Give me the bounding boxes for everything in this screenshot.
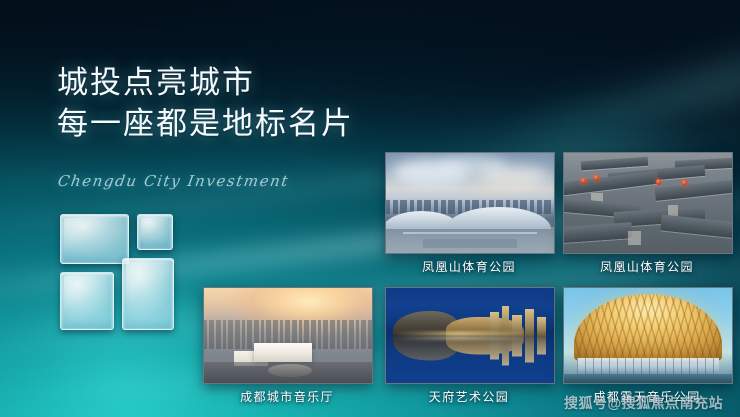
dome-foreground-water bbox=[564, 374, 732, 383]
stadium-plaza bbox=[386, 227, 554, 253]
page-title: 城投点亮城市 每一座都是地标名片 bbox=[57, 62, 354, 144]
reflection-lights bbox=[393, 336, 524, 338]
roof-7 bbox=[563, 222, 632, 244]
roof-3 bbox=[654, 178, 733, 201]
glass-block-decoration bbox=[60, 214, 188, 344]
night-art-park-scene bbox=[386, 288, 554, 383]
wall-3 bbox=[628, 231, 641, 245]
photo-card-roofs[interactable] bbox=[563, 152, 731, 252]
golden-dome-scene bbox=[564, 288, 732, 383]
title-line-1: 城投点亮城市 bbox=[57, 62, 354, 103]
reflection-tower-5 bbox=[537, 336, 545, 355]
tower-2 bbox=[502, 306, 509, 335]
photo-card-stadium[interactable] bbox=[385, 152, 553, 252]
photo-image-music-park bbox=[563, 287, 733, 384]
photo-caption-roofs: 凤凰山体育公园 bbox=[563, 258, 731, 275]
rooftops-scene bbox=[564, 153, 732, 253]
tower-4 bbox=[525, 309, 533, 336]
red-lantern-1 bbox=[581, 178, 586, 184]
photo-card-music-hall[interactable] bbox=[203, 287, 371, 382]
photo-card-art-park[interactable] bbox=[385, 287, 553, 382]
glass-block-4 bbox=[122, 258, 174, 330]
title-line-2: 每一座都是地标名片 bbox=[57, 103, 354, 144]
water-reflection bbox=[386, 336, 554, 384]
dome-glass-base bbox=[577, 358, 718, 375]
slide-canvas: 城投点亮城市 每一座都是地标名片 Chengdu City Investment… bbox=[0, 0, 740, 417]
photo-image-roofs bbox=[563, 152, 733, 254]
photo-image-music-hall bbox=[203, 287, 373, 384]
tower-5 bbox=[537, 317, 545, 336]
roof-8 bbox=[581, 157, 649, 171]
stadium-scene bbox=[386, 153, 554, 253]
photo-caption-art-park: 天府艺术公园 bbox=[385, 388, 553, 405]
photo-image-art-park bbox=[385, 287, 555, 384]
script-subtitle: Chengdu City Investment bbox=[57, 172, 291, 190]
art-park-buildings bbox=[386, 288, 554, 336]
photo-card-music-park[interactable] bbox=[563, 287, 731, 382]
photo-image-stadium bbox=[385, 152, 555, 254]
sunset-city-scene bbox=[204, 288, 372, 383]
glass-block-1 bbox=[60, 214, 129, 264]
red-lantern-4 bbox=[682, 180, 687, 186]
red-lantern-3 bbox=[656, 179, 661, 185]
glass-block-2 bbox=[137, 214, 173, 250]
golden-lattice-dome bbox=[574, 294, 722, 364]
foreground-shadow bbox=[204, 362, 372, 383]
music-hall-building bbox=[254, 343, 311, 362]
cloud-5 bbox=[467, 179, 541, 191]
shoreline-lights bbox=[393, 332, 524, 334]
sohu-watermark: 搜狐号@搜狐焦点南充站 bbox=[564, 393, 723, 413]
glass-block-3 bbox=[60, 272, 114, 330]
reflection-tower-2 bbox=[502, 336, 509, 365]
roof-6 bbox=[661, 214, 733, 239]
cloud-4 bbox=[406, 175, 466, 189]
photo-caption-music-hall: 成都城市音乐厅 bbox=[203, 388, 371, 405]
photo-caption-stadium: 凤凰山体育公园 bbox=[385, 258, 553, 275]
reflection-tower-4 bbox=[525, 336, 533, 363]
